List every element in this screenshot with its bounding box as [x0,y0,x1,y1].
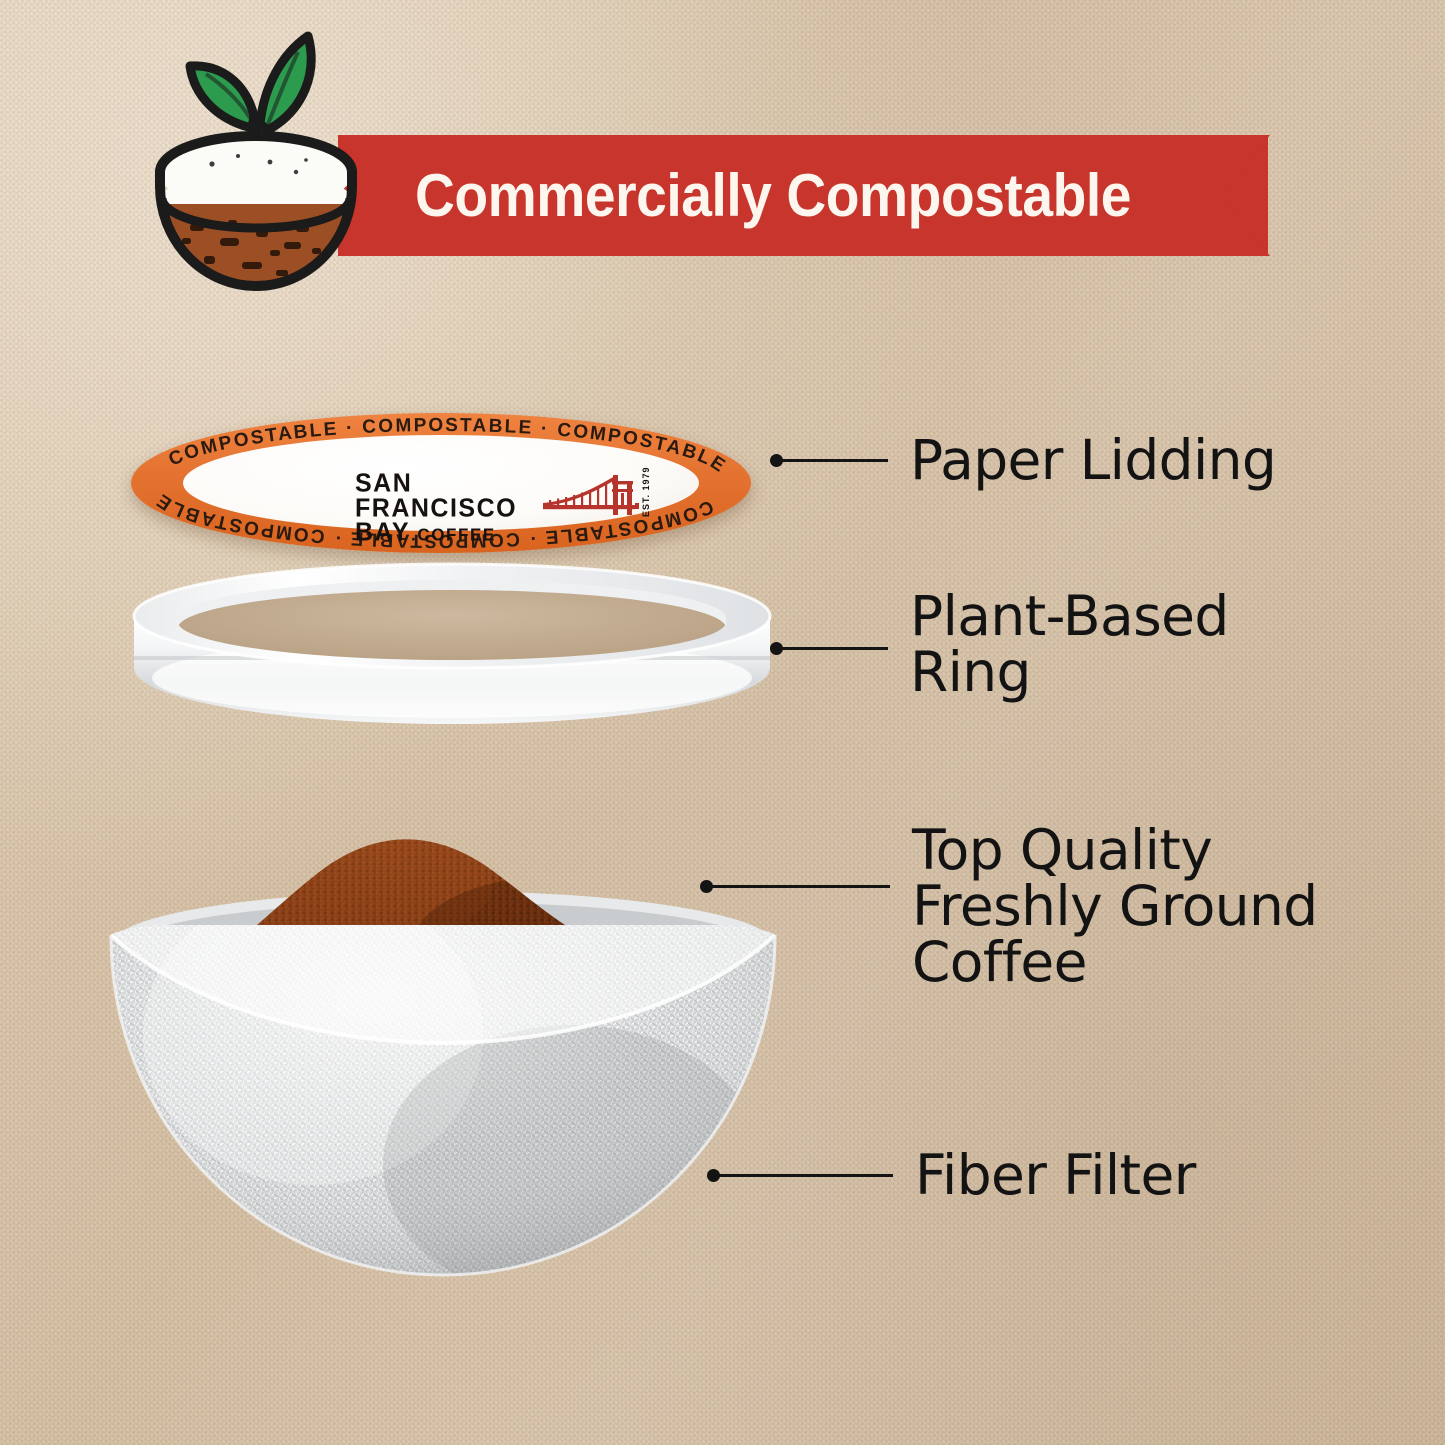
banner-title: Commercially Compostable [373,135,1173,256]
leader-line-fiber-filter [707,1173,893,1177]
callout-ground-coffee: Top Quality Freshly Ground Coffee [700,822,1318,990]
compostable-sprout-coconut-icon [146,24,366,294]
plant-based-ring-component [128,560,776,740]
leader-stroke [776,647,888,650]
logo-suffix-coffee: .COFFEE [411,527,496,544]
callout-fiber-filter: Fiber Filter [707,1147,1196,1203]
leader-stroke [776,459,888,462]
callout-label-fiber-filter: Fiber Filter [915,1147,1196,1203]
lid-white-face: EST. 1979 SAN FRANCISCO BAY .COFFEE [183,435,699,531]
leader-line-ground-coffee [700,884,890,888]
leader-line-paper-lidding [770,458,888,462]
callout-plant-based-ring: Plant-Based Ring [770,588,1229,700]
fiber-filter-body [103,885,783,1295]
callout-paper-lidding: Paper Lidding [770,432,1276,488]
fiber-filter-bowl-with-coffee [103,805,783,1295]
leader-stroke [706,885,890,888]
callout-label-ground-coffee: Top Quality Freshly Ground Coffee [912,822,1318,990]
infographic-canvas: Commercially Compostable [0,0,1445,1445]
paper-lid-component: COMPOSTABLE · COMPOSTABLE · COMPOSTABLE … [131,413,751,553]
logo-line-san: SAN [355,471,645,496]
leader-stroke [713,1174,893,1177]
leader-line-plant-based-ring [770,646,888,650]
logo-line-bay: BAY [355,520,410,545]
san-francisco-bay-coffee-logo: EST. 1979 SAN FRANCISCO BAY .COFFEE [355,471,645,543]
callout-label-plant-based-ring: Plant-Based Ring [910,588,1229,700]
banner-header: Commercially Compostable [0,0,1445,300]
callout-label-paper-lidding: Paper Lidding [910,432,1276,488]
